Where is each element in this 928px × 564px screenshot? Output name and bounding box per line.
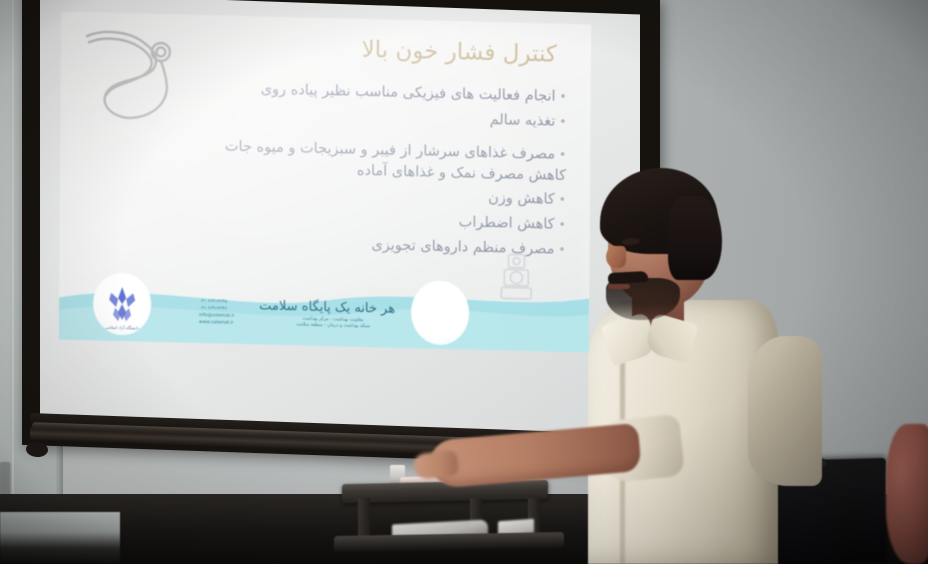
wall-seam	[12, 0, 14, 564]
presenter-right-shoulder	[748, 336, 822, 486]
slide-bullet-list: •انجام فعالیت های فیزیکی مناسب نظیر پیاد…	[115, 75, 566, 264]
slide-title: کنترل فشار خون بالا	[362, 37, 558, 69]
bullet-text: کاهش اضطراب	[459, 215, 555, 233]
floor-left-corner	[0, 512, 120, 564]
presenter-hair-back	[668, 196, 722, 280]
islamic-azad-university-logo: دانشگاه آزاد اسلامی	[93, 272, 151, 335]
presenter-nose	[606, 246, 626, 268]
presenter-lip	[608, 284, 630, 289]
footer-slogan-text: هر خانه یک پایگاه سلامت	[271, 298, 395, 316]
azad-emblem-icon	[105, 284, 139, 325]
bullet-text: انجام فعالیت های فیزیکی مناسب نظیر پیاده…	[261, 81, 556, 104]
footer-contact-info: ۰۲۱ ۶۶۹۱۲۳۴۵ ۰۲۱ ۶۶۹۱۲۳۴۶ info@salamat.i…	[199, 299, 271, 329]
bystander-hand	[886, 424, 928, 564]
bullet-marker: •	[559, 218, 566, 232]
projector-screen-pull-knob[interactable]	[26, 442, 48, 458]
bullet-marker: •	[559, 115, 566, 129]
ministry-of-health-logo	[411, 280, 469, 345]
bullet-marker: •	[560, 90, 567, 104]
presenter-mustache	[608, 271, 649, 284]
bullet-marker: •	[558, 243, 565, 257]
bullet-text: تغذیه سالم	[490, 112, 556, 130]
bullet-marker: •	[559, 193, 566, 207]
bullet-text: کاهش وزن	[488, 190, 555, 208]
lectern-leg	[358, 498, 370, 538]
wall-bracket	[0, 462, 10, 498]
lecture-room-photo: کنترل فشار خون بالا •انجام فعالیت های فی…	[0, 0, 928, 564]
projected-slide: کنترل فشار خون بالا •انجام فعالیت های فی…	[59, 12, 591, 353]
presenter-hand	[413, 449, 460, 480]
slide-footer-band: دانشگاه آزاد اسلامی هر خانه یک پایگاه سل…	[59, 264, 590, 353]
bullet-text: مصرف غذاهای سرشار از فیبر و سبزیجات و می…	[225, 139, 566, 184]
footer-slogan: هر خانه یک پایگاه سلامت معاونت بهداشت - …	[271, 298, 395, 332]
bullet-marker: •	[559, 148, 566, 162]
